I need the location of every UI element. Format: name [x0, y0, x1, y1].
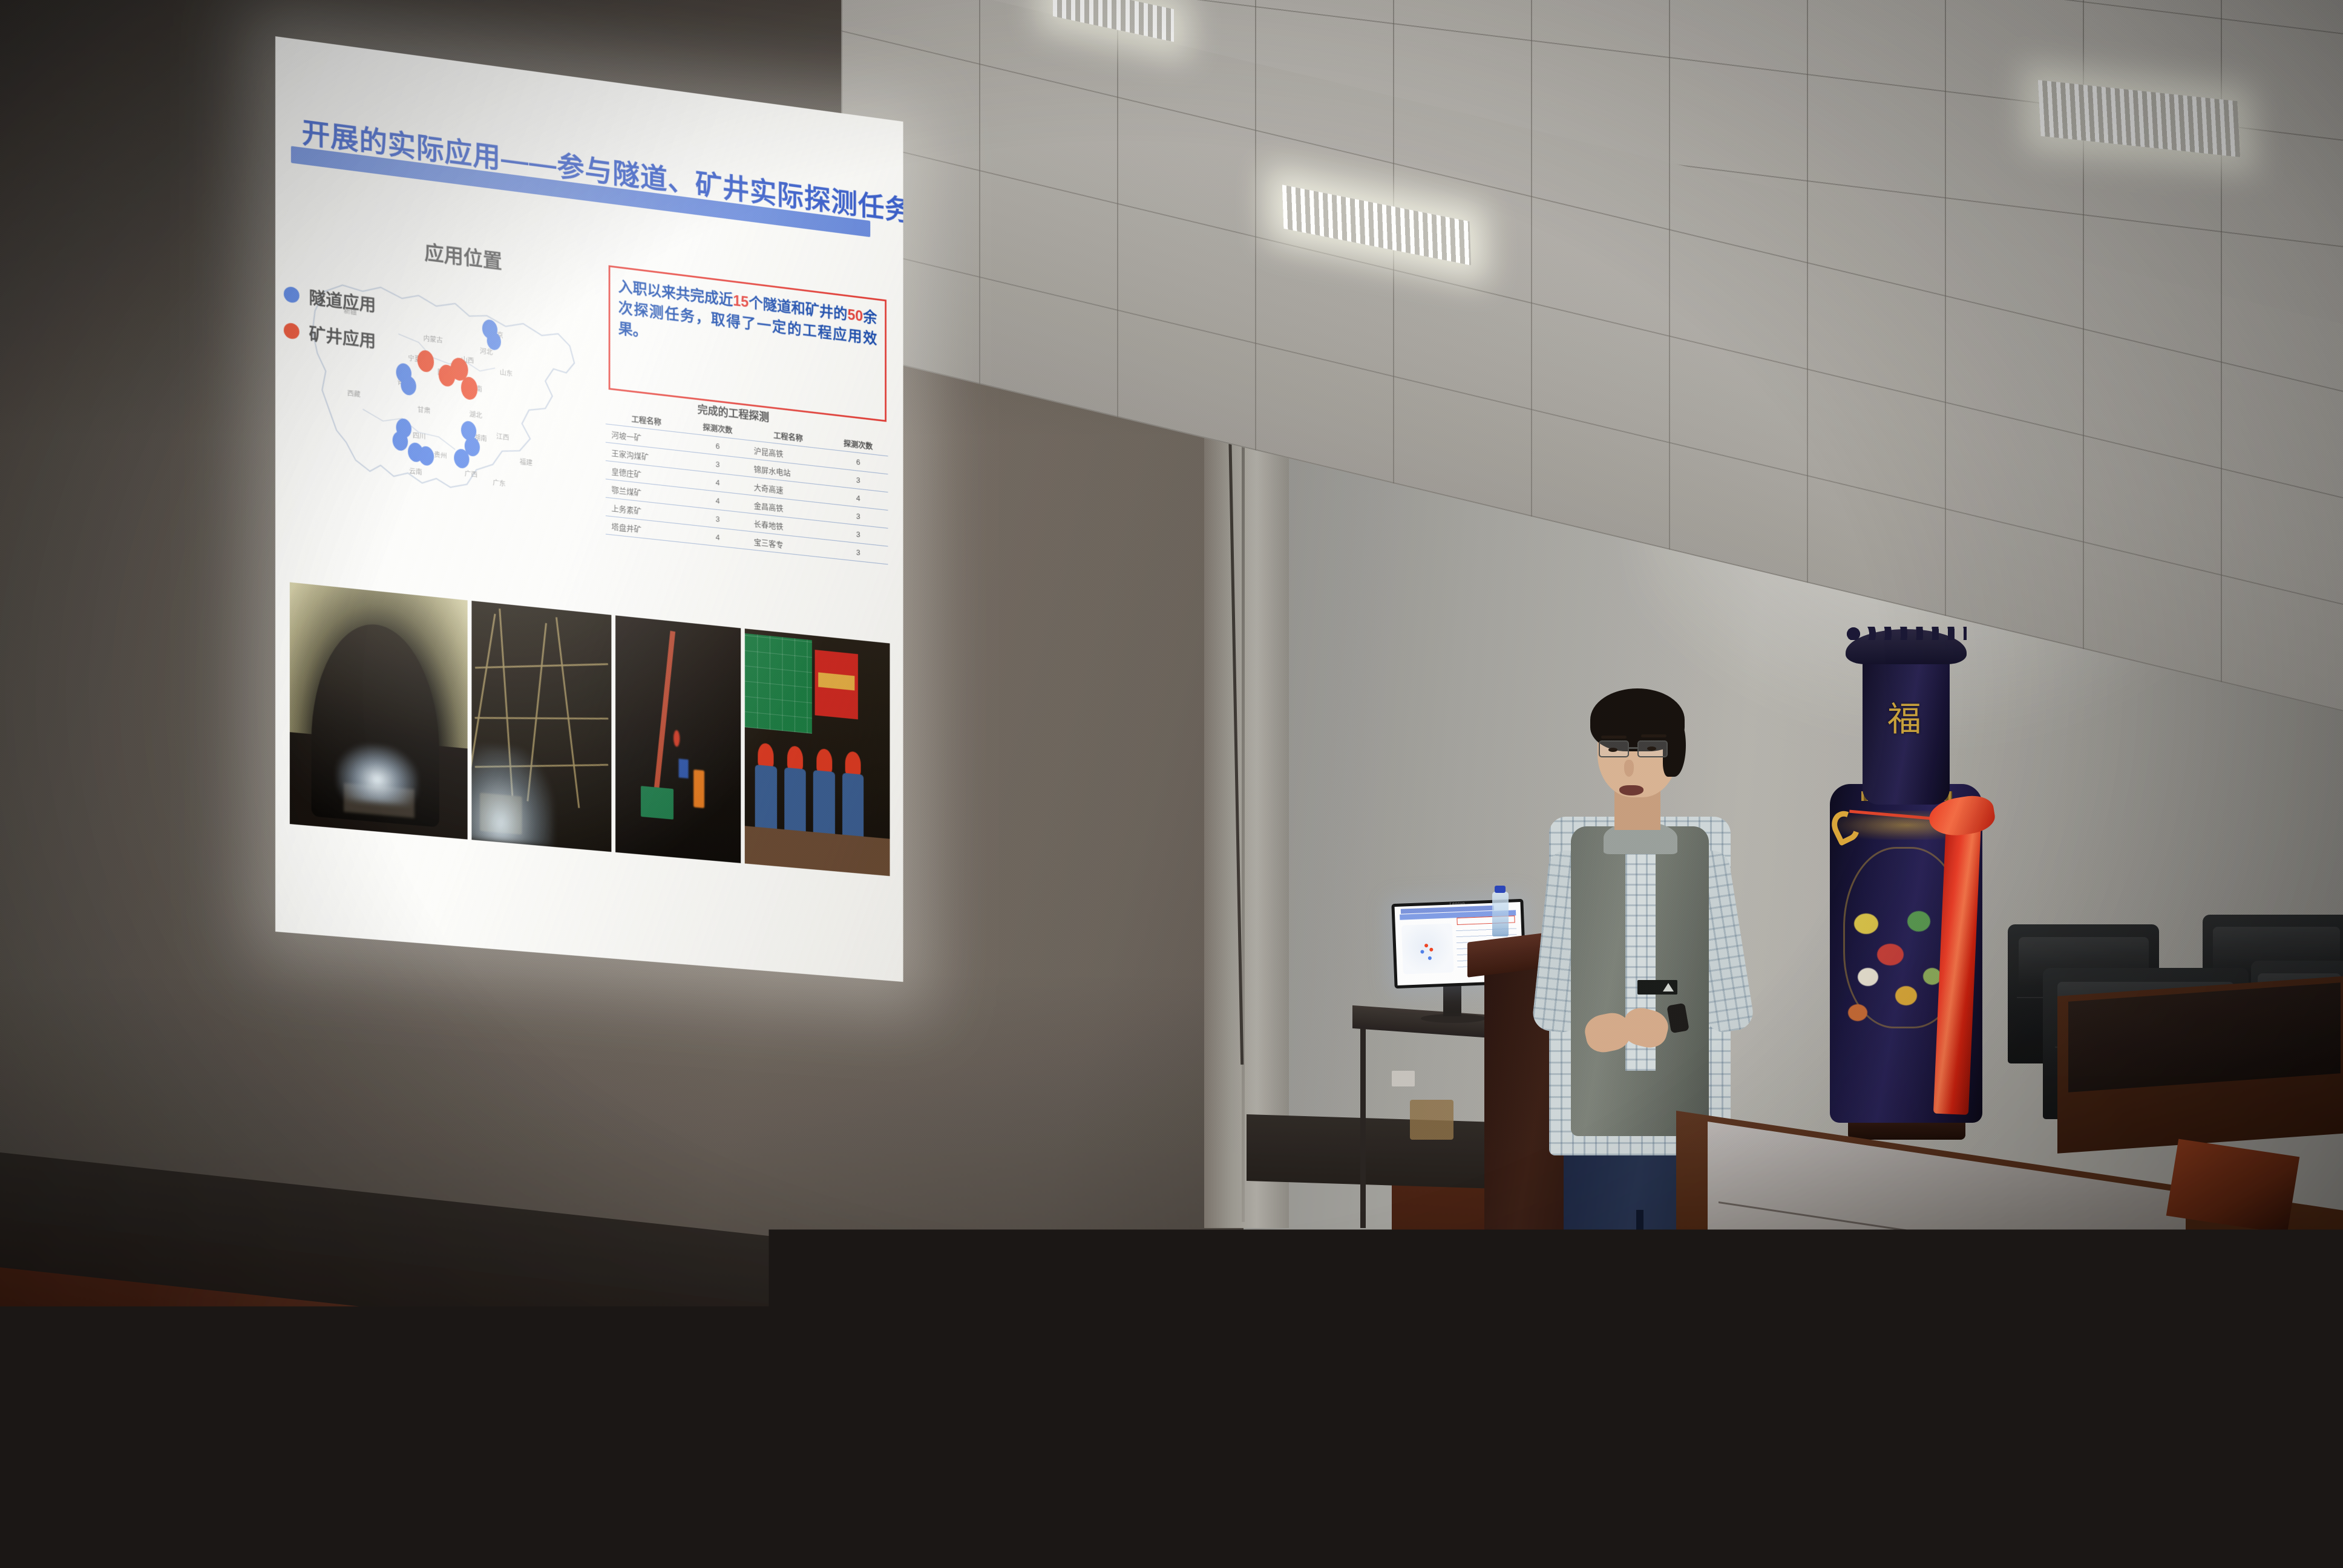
legend-item-mine: 矿井应用 [284, 318, 376, 353]
decorative-vase: 福 [1821, 629, 1991, 1125]
shaft-green-panel [641, 786, 673, 820]
province-label: 江西 [496, 431, 509, 442]
vase-flower [1854, 913, 1878, 934]
back-table-surface [2068, 982, 2341, 1092]
blue-dot-icon [284, 286, 300, 304]
waste-basket [1410, 1100, 1453, 1140]
conference-table [1676, 1111, 2343, 1568]
province-label: 山东 [500, 367, 513, 378]
presenter-brow-right [1641, 734, 1666, 737]
presenter-shoe-left [1536, 1430, 1624, 1469]
province-label: 西藏 [347, 388, 361, 399]
presenter-brow-left [1601, 736, 1627, 739]
team-red-banner [814, 650, 858, 719]
province-label: 甘肃 [418, 405, 430, 416]
wall-outlet [1392, 1071, 1415, 1086]
mirrored-map [1401, 924, 1453, 975]
presenter-eye-right [1647, 746, 1656, 751]
presenter-leg-gap [1636, 1210, 1643, 1440]
mirrored-marker [1424, 944, 1428, 947]
mine-shaft-photo [615, 615, 741, 863]
presenter-mouth [1619, 785, 1643, 795]
tunnel-face-photo [290, 582, 468, 839]
province-label: 广东 [493, 477, 505, 488]
conference-room-scene: 开展的实际应用——参与隧道、矿井实际探测任务 应用位置 新疆 西藏 青海 甘肃 … [0, 0, 2343, 1568]
photo-strip [290, 582, 887, 875]
mirrored-marker [1430, 947, 1434, 951]
map-legend: 隧道应用 矿井应用 [284, 282, 376, 365]
vase-flower [1877, 944, 1904, 965]
province-label: 广西 [465, 468, 477, 479]
vase-flower [1907, 911, 1930, 932]
bottle-cap [1495, 886, 1506, 893]
side-table-leg [1360, 1028, 1366, 1228]
red-dot-icon [284, 322, 300, 340]
water-bottle [1492, 892, 1509, 936]
vase-gold-character: 福 [1882, 696, 1927, 744]
province-label: 湖北 [470, 410, 482, 420]
project-table-zone: 完成的工程探测 工程名称 探测次数 工程名称 探测次数 河坡一矿 6 [606, 395, 890, 603]
presenter-nose [1624, 760, 1634, 777]
monitor-stand [1443, 985, 1461, 1016]
work-team-photo [745, 629, 890, 876]
project-detection-table: 工程名称 探测次数 工程名称 探测次数 河坡一矿 6 沪昆高铁 6 [606, 406, 888, 565]
shaft-orange-marker [693, 769, 705, 808]
team-banner-text-block [818, 672, 854, 690]
vase-flower [1848, 1004, 1867, 1021]
mirrored-marker [1428, 956, 1432, 960]
vase-flower [1858, 968, 1878, 986]
presentation-slide: 开展的实际应用——参与隧道、矿井实际探测任务 应用位置 新疆 西藏 青海 甘肃 … [275, 36, 903, 982]
vase-flower [1895, 986, 1917, 1005]
province-label: 贵州 [434, 449, 447, 460]
presenter-eye-left [1608, 748, 1617, 752]
team-wall-grid [745, 633, 812, 734]
vase-scalloped-rim [1846, 627, 1967, 640]
callout-highlight-50: 50 [847, 307, 863, 325]
shaft-red-light [673, 730, 680, 747]
scaffold-dust [471, 743, 552, 847]
province-label: 云南 [409, 466, 422, 477]
projection-screen: 开展的实际应用——参与隧道、矿井实际探测任务 应用位置 新疆 西藏 青海 甘肃 … [275, 36, 965, 1054]
province-label: 四川 [413, 430, 426, 441]
province-label: 福建 [520, 457, 532, 468]
mirrored-marker [1421, 950, 1424, 953]
vest-brand-logo-icon [1637, 980, 1677, 995]
shaft-blue-box [678, 759, 689, 779]
team-green-wall [745, 633, 812, 734]
scaffolding-photo [471, 601, 611, 852]
legend-label-mine: 矿井应用 [309, 321, 376, 353]
tunnel-worklight [336, 741, 418, 806]
callout-highlight-15: 15 [733, 292, 749, 310]
